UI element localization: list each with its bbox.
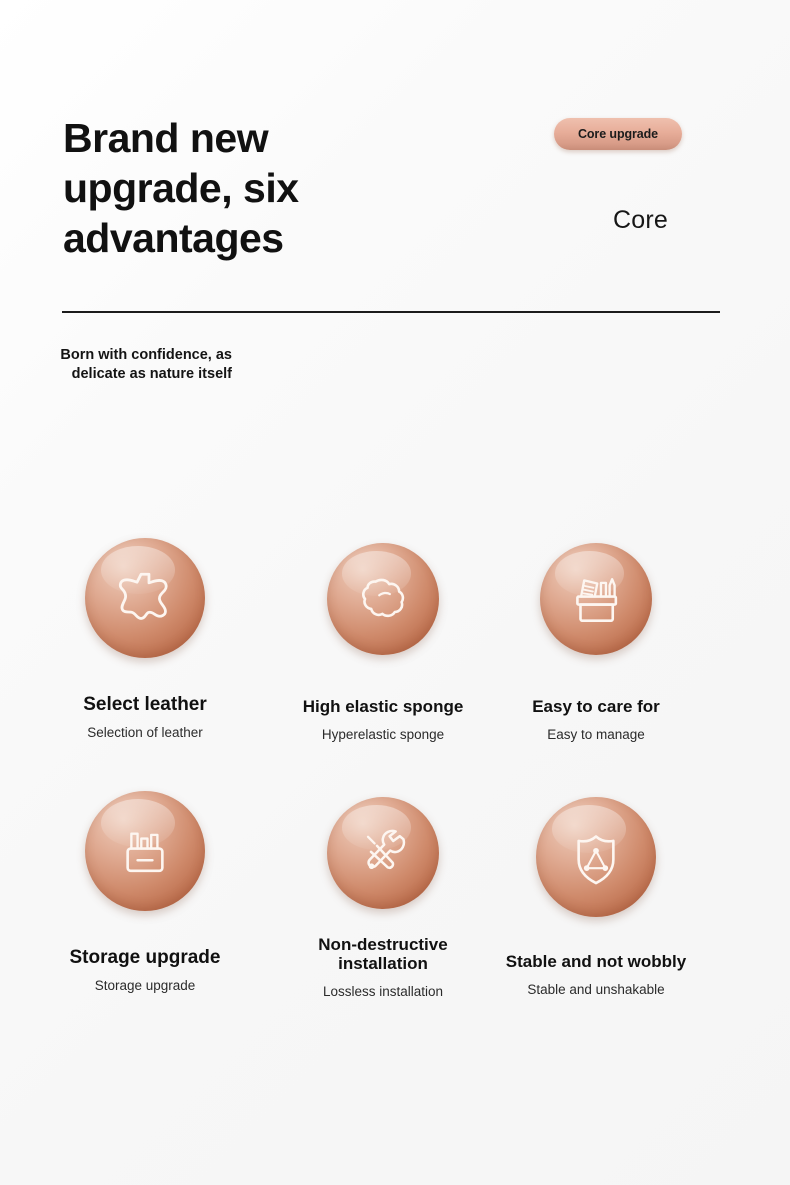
feature-item-select-leather: Select leather Selection of leather	[0, 505, 276, 783]
shield-triangle-icon	[536, 797, 656, 917]
sponge-cloud-icon	[327, 543, 439, 655]
feature-title: Select leather	[83, 695, 207, 714]
feature-item-stable-and-not-wobbly: Stable and not wobbly Stable and unshaka…	[490, 783, 790, 999]
feature-title: High elastic sponge	[303, 697, 464, 716]
feature-title: Stable and not wobbly	[506, 952, 686, 971]
core-upgrade-badge-label: Core upgrade	[578, 127, 658, 141]
header-divider	[62, 311, 720, 313]
core-upgrade-badge: Core upgrade	[554, 118, 682, 150]
feature-item-high-elastic-sponge: High elastic sponge Hyperelastic sponge	[276, 505, 490, 783]
feature-item-non-destructive-installation: Non-destructive installation Lossless in…	[276, 783, 490, 999]
feature-title: Easy to care for	[532, 697, 660, 716]
feature-subtitle: Selection of leather	[87, 725, 203, 740]
feature-subtitle: Easy to manage	[547, 727, 645, 742]
core-word-label: Core	[613, 206, 668, 235]
feature-item-easy-to-care-for: Easy to care for Easy to manage	[490, 505, 790, 783]
page-title: Brand new upgrade, six advantages	[63, 113, 393, 263]
feature-row: Storage upgrade Storage upgrade Non-dest…	[0, 783, 790, 999]
feature-row: Select leather Selection of leather High…	[0, 505, 790, 783]
feature-subtitle: Stable and unshakable	[527, 982, 664, 997]
feature-item-storage-upgrade: Storage upgrade Storage upgrade	[0, 783, 276, 999]
leather-hide-icon	[85, 538, 205, 658]
features-grid: Select leather Selection of leather High…	[0, 505, 790, 999]
tools-wrench-screwdriver-icon	[327, 797, 439, 909]
page-subtitle: Born with confidence, as delicate as nat…	[24, 346, 232, 384]
feature-title: Non-destructive installation	[298, 935, 468, 973]
feature-title: Storage upgrade	[70, 948, 221, 967]
storage-caddy-icon	[540, 543, 652, 655]
feature-subtitle: Lossless installation	[323, 984, 443, 999]
feature-subtitle: Storage upgrade	[95, 978, 196, 993]
feature-subtitle: Hyperelastic sponge	[322, 727, 444, 742]
page-header: Brand new upgrade, six advantages Core u…	[0, 0, 790, 300]
storage-drawer-icon	[85, 791, 205, 911]
